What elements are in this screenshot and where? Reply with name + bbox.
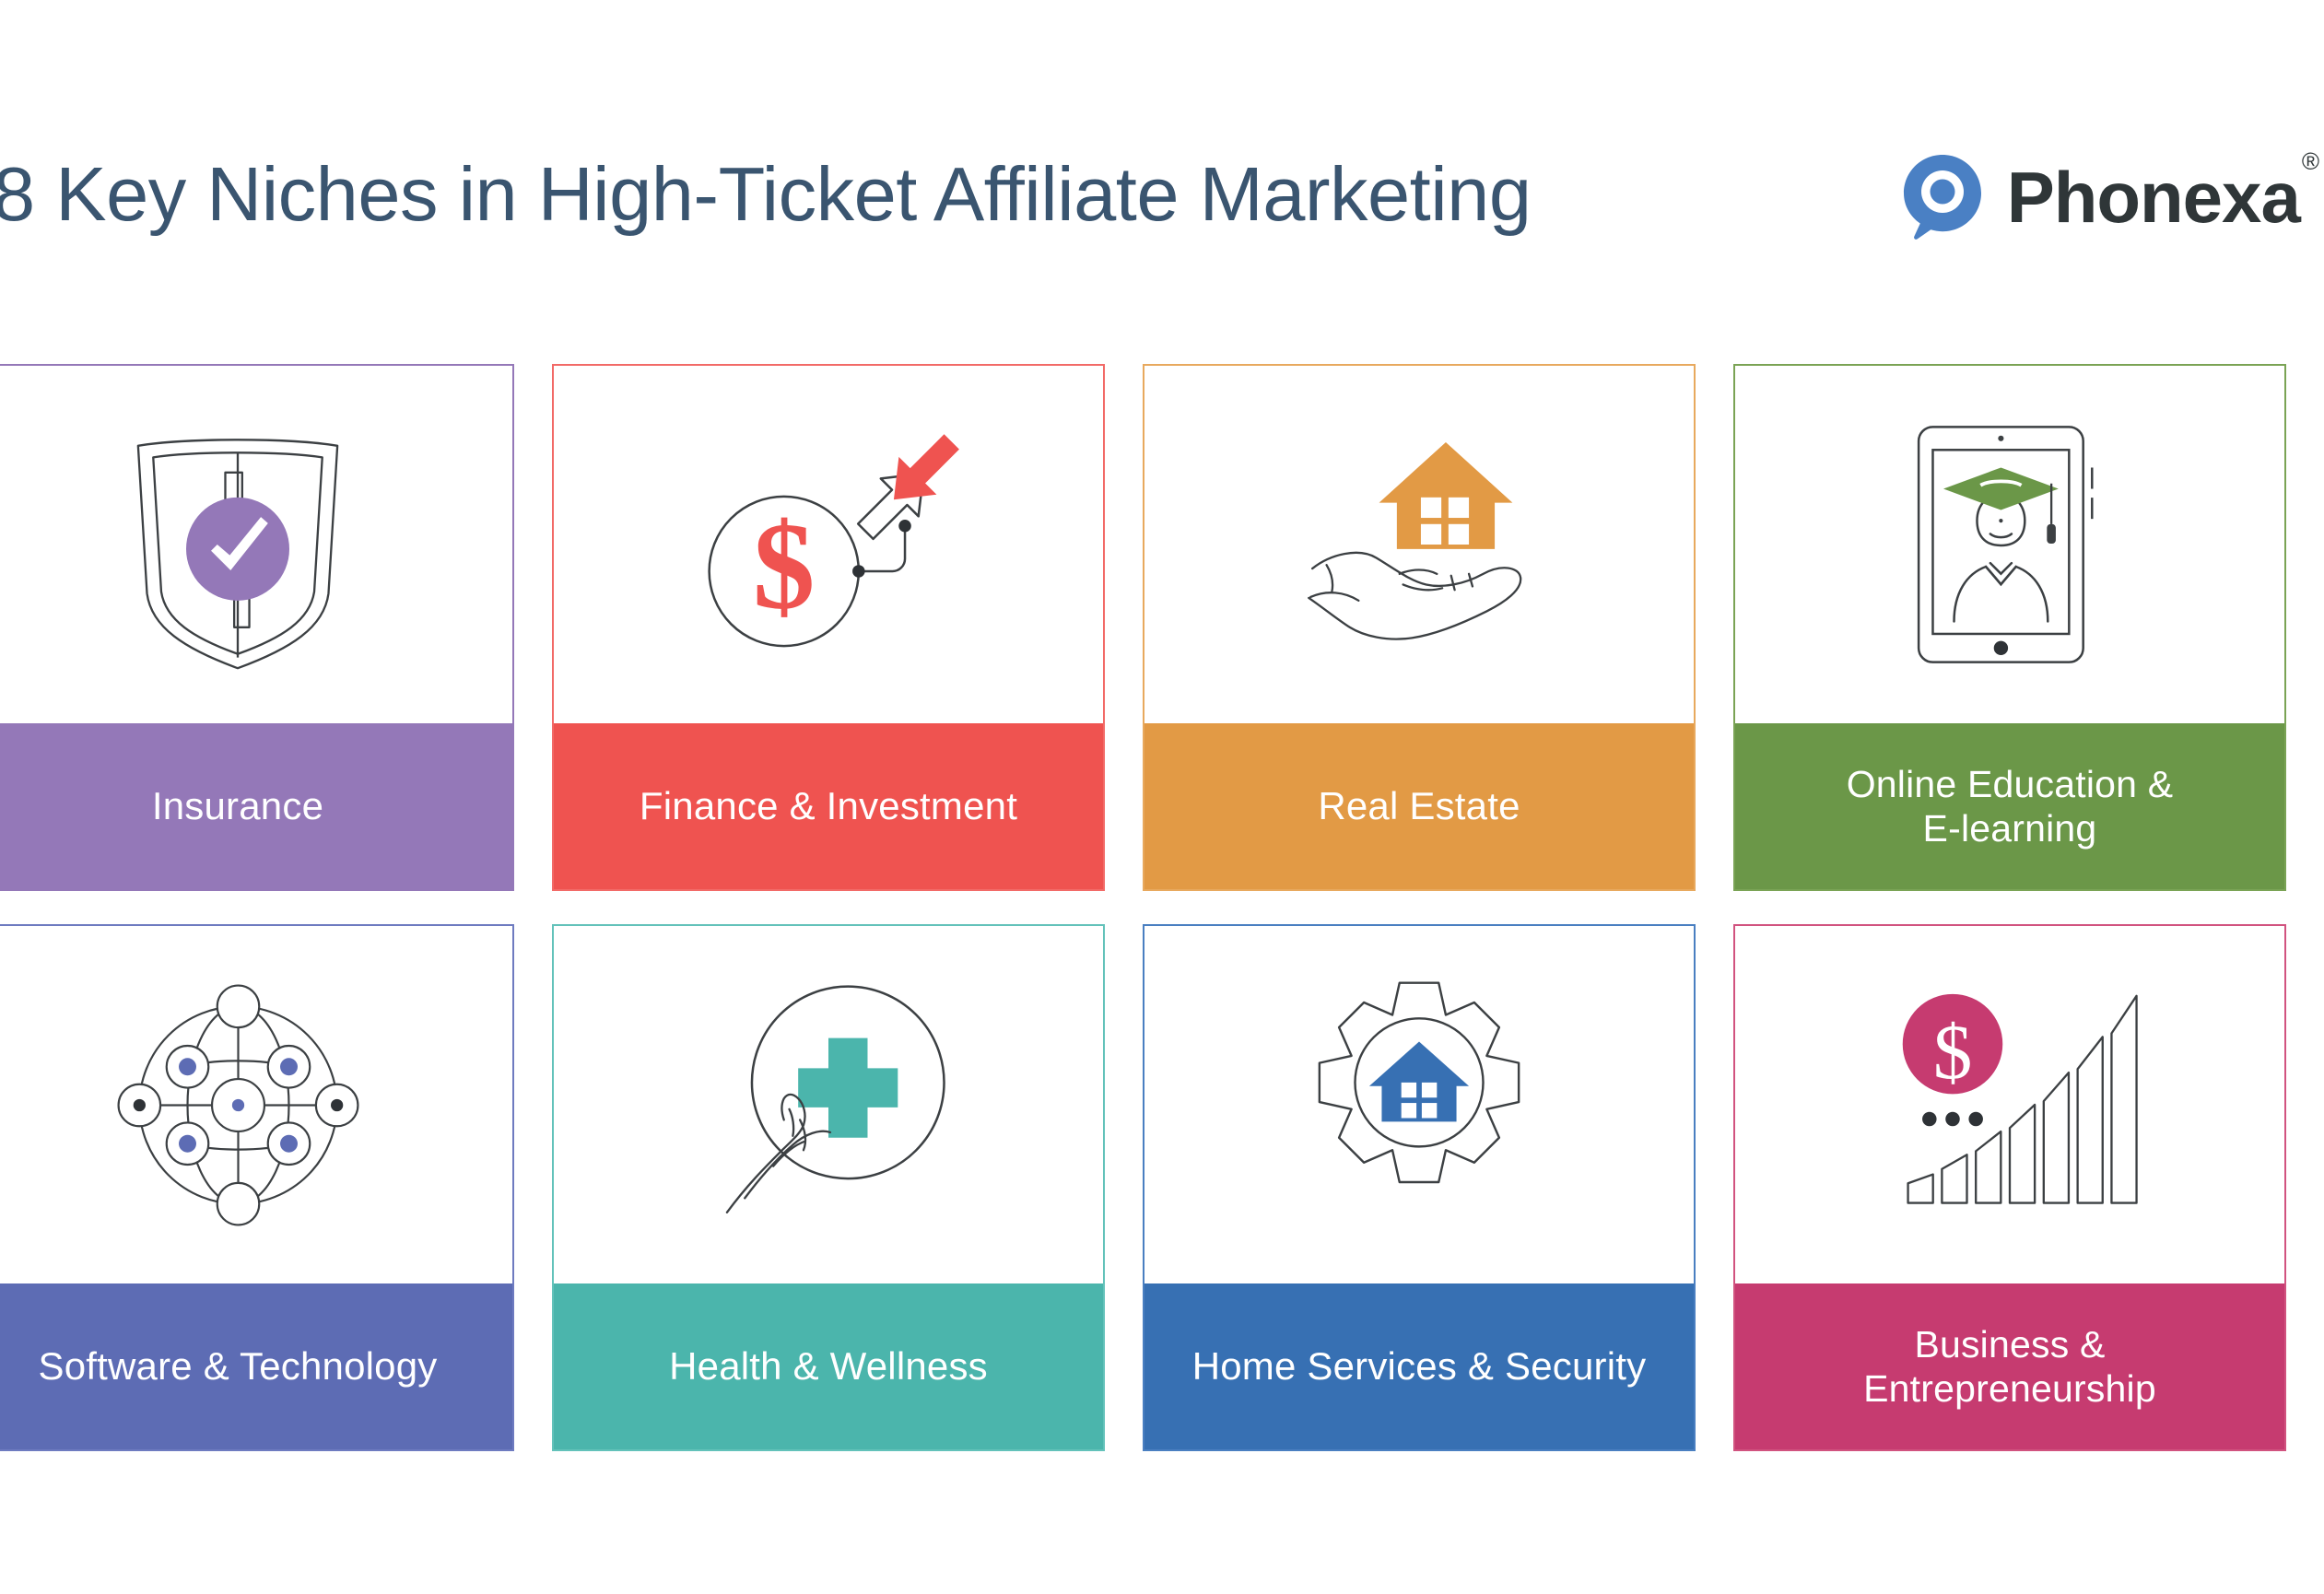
hand-house-icon (1276, 416, 1562, 674)
niche-card-finance-investment[interactable]: $ Finance & Investment (552, 364, 1105, 891)
card-label-health-wellness: Health & Wellness (554, 1283, 1103, 1449)
page-title: 8 Key Niches in High-Ticket Affiliate Ma… (0, 138, 1679, 258)
card-label-line-2: E-learning (1923, 807, 2097, 850)
card-art-home-services-security (1144, 926, 1694, 1283)
header: 8 Key Niches in High-Ticket Affiliate Ma… (0, 138, 2324, 258)
niche-card-insurance[interactable]: Insurance (0, 364, 514, 891)
infographic-page: 8 Key Niches in High-Ticket Affiliate Ma… (0, 0, 2324, 1594)
dollar-circle-arrows-icon: $ (686, 416, 971, 674)
card-label-line-1: Home Services & Security (1192, 1343, 1647, 1389)
gear-house-icon (1285, 976, 1553, 1234)
card-art-insurance (0, 366, 512, 723)
niche-card-home-services-security[interactable]: Home Services & Security (1143, 924, 1696, 1451)
house-shape (1379, 442, 1513, 549)
house-shape (1369, 1041, 1469, 1121)
shield-check-icon (104, 416, 371, 674)
niche-card-online-education-elearning[interactable]: Online Education & E-learning (1733, 364, 2286, 891)
card-art-business-entrepreneurship: $ (1735, 926, 2284, 1283)
dollar-coin-growth-bars-icon: $ (1867, 979, 2153, 1230)
card-label-insurance: Insurance (0, 723, 512, 889)
card-label-online-education-elearning: Online Education & E-learning (1735, 723, 2284, 889)
card-label-home-services-security: Home Services & Security (1144, 1283, 1694, 1449)
card-label-line-1: Online Education & (1847, 763, 2174, 805)
card-label-lines: Online Education & E-learning (1847, 762, 2174, 851)
brand-logo: Phonexa® (1902, 144, 2317, 251)
card-label-line-1: Software & Technology (38, 1343, 437, 1389)
card-label-line-1: Insurance (152, 783, 323, 829)
card-art-online-education-elearning (1735, 366, 2284, 723)
card-label-line-1: Health & Wellness (669, 1343, 988, 1389)
svg-text:$: $ (753, 498, 816, 636)
card-label-finance-investment: Finance & Investment (554, 723, 1103, 889)
card-label-software-technology: Software & Technology (0, 1283, 512, 1449)
hand-medical-cross-icon (695, 976, 962, 1234)
svg-text:$: $ (1933, 1009, 1973, 1096)
card-label-real-estate: Real Estate (1144, 723, 1694, 889)
niche-card-real-estate[interactable]: Real Estate (1143, 364, 1696, 891)
card-art-real-estate (1144, 366, 1694, 723)
phonexa-pin-icon (1902, 153, 1983, 241)
card-label-line-1: Business & (1914, 1323, 2105, 1365)
brand-name-text: Phonexa (2007, 157, 2300, 238)
card-label-line-1: Real Estate (1318, 783, 1520, 829)
card-label-line-2: Entrepreneurship (1863, 1367, 2156, 1410)
card-label-lines: Business & Entrepreneurship (1863, 1322, 2156, 1412)
card-label-line-1: Finance & Investment (640, 783, 1017, 829)
card-art-health-wellness (554, 926, 1103, 1283)
card-art-software-technology (0, 926, 512, 1283)
registered-trademark-icon: ® (2302, 147, 2318, 175)
tablet-graduate-icon (1899, 416, 2120, 674)
card-label-business-entrepreneurship: Business & Entrepreneurship (1735, 1283, 2284, 1449)
niche-card-software-technology[interactable]: Software & Technology (0, 924, 514, 1451)
brand-name: Phonexa® (2007, 161, 2317, 233)
niche-card-health-wellness[interactable]: Health & Wellness (552, 924, 1105, 1451)
niche-card-business-entrepreneurship[interactable]: $ (1733, 924, 2286, 1451)
niche-card-grid: Insurance $ (0, 364, 2324, 1451)
card-art-finance-investment: $ (554, 366, 1103, 723)
network-globe-icon (107, 979, 370, 1232)
